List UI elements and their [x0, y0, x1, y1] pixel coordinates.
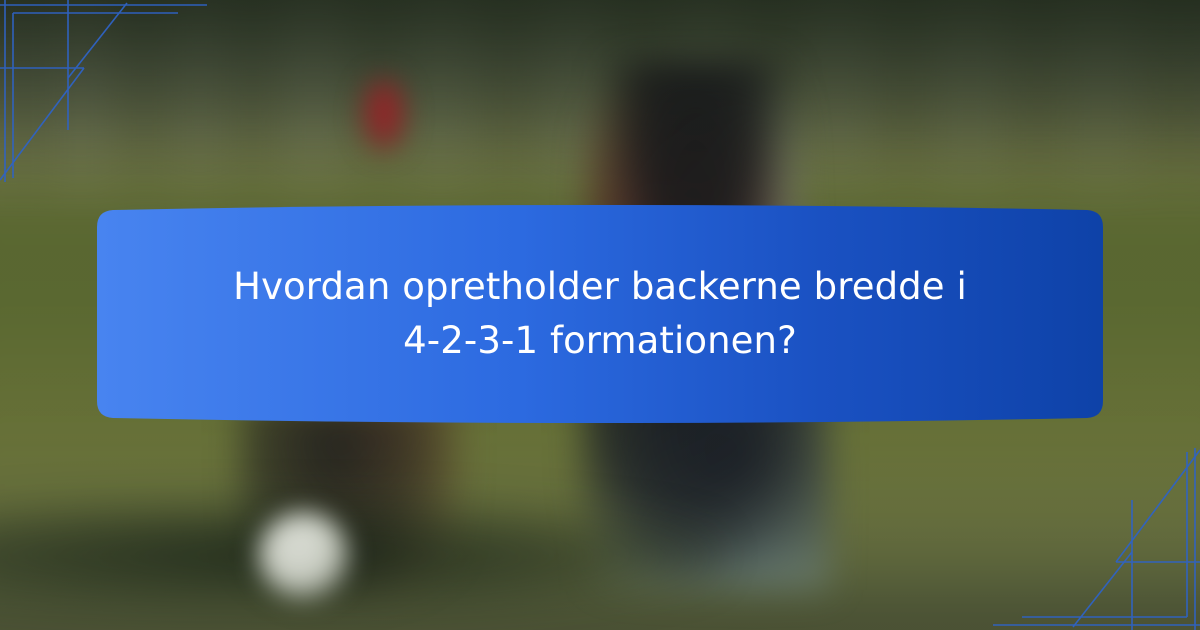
headline-line-2: 4-2-3-1 formationen? — [403, 314, 797, 368]
headline-line-1: Hvordan opretholder backerne bredde i — [233, 260, 967, 314]
share-card-canvas: Hvordan opretholder backerne bredde i 4-… — [0, 0, 1200, 630]
headline-text: Hvordan opretholder backerne bredde i 4-… — [97, 203, 1103, 425]
headline-banner: Hvordan opretholder backerne bredde i 4-… — [97, 203, 1103, 425]
